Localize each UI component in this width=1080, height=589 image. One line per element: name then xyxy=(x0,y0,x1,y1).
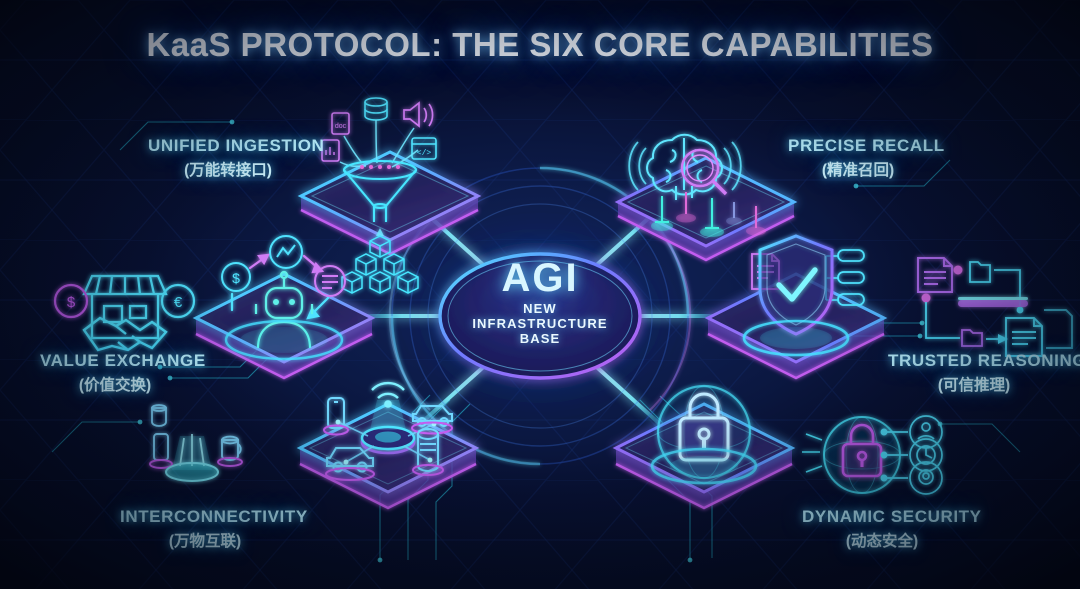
svg-text:</>: </> xyxy=(417,149,432,158)
svg-text:€: € xyxy=(174,294,183,311)
storefront-handshake-icon: $ € xyxy=(55,276,194,350)
agi-hub-node[interactable] xyxy=(404,220,676,412)
label-trusted-reasoning-cn: (可信推理) xyxy=(888,373,1060,395)
svg-text:doc: doc xyxy=(335,123,347,130)
platform-trusted-reasoning[interactable] xyxy=(708,236,884,378)
label-dynamic-security[interactable]: DYNAMIC SECURITY (动态安全) xyxy=(802,507,962,551)
document-provenance-flow-icon xyxy=(918,258,1072,356)
label-precise-recall-cn: (精准召回) xyxy=(788,158,928,180)
platform-precise-recall[interactable] xyxy=(618,135,794,260)
platform-value-exchange[interactable]: $ xyxy=(196,236,372,378)
label-unified-ingestion[interactable]: UNIFIED INGESTION (万能转接口) xyxy=(148,136,308,180)
label-precise-recall-en: PRECISE RECALL xyxy=(788,136,928,156)
label-unified-ingestion-en: UNIFIED INGESTION xyxy=(148,136,308,156)
label-trusted-reasoning[interactable]: TRUSTED REASONING (可信推理) xyxy=(888,351,1060,395)
svg-text:$: $ xyxy=(67,294,76,311)
access-control-policy-icon xyxy=(802,416,942,494)
page-title: KaaS PROTOCOL: THE SIX CORE CAPABILITIES xyxy=(0,26,1080,64)
label-dynamic-security-cn: (动态安全) xyxy=(802,529,962,551)
label-unified-ingestion-cn: (万能转接口) xyxy=(148,158,308,180)
platform-dynamic-security[interactable] xyxy=(616,386,792,508)
infographic-canvas: doc </> xyxy=(0,0,1080,589)
label-dynamic-security-en: DYNAMIC SECURITY xyxy=(802,507,962,527)
label-value-exchange-cn: (价值交换) xyxy=(40,373,190,395)
label-interconnectivity[interactable]: INTERCONNECTIVITY (万物互联) xyxy=(120,507,290,551)
hologram-projector-icon xyxy=(150,405,242,481)
platform-interconnectivity[interactable] xyxy=(300,383,476,508)
label-interconnectivity-en: INTERCONNECTIVITY xyxy=(120,507,290,527)
label-trusted-reasoning-en: TRUSTED REASONING xyxy=(888,351,1060,371)
svg-text:$: $ xyxy=(232,270,240,286)
handshake-glyph xyxy=(84,318,166,350)
label-precise-recall[interactable]: PRECISE RECALL (精准召回) xyxy=(788,136,928,180)
label-value-exchange[interactable]: VALUE EXCHANGE (价值交换) xyxy=(40,351,190,395)
hub-and-spoke-diagram: doc </> xyxy=(0,0,1080,589)
label-interconnectivity-cn: (万物互联) xyxy=(120,529,290,551)
label-value-exchange-en: VALUE EXCHANGE xyxy=(40,351,190,371)
